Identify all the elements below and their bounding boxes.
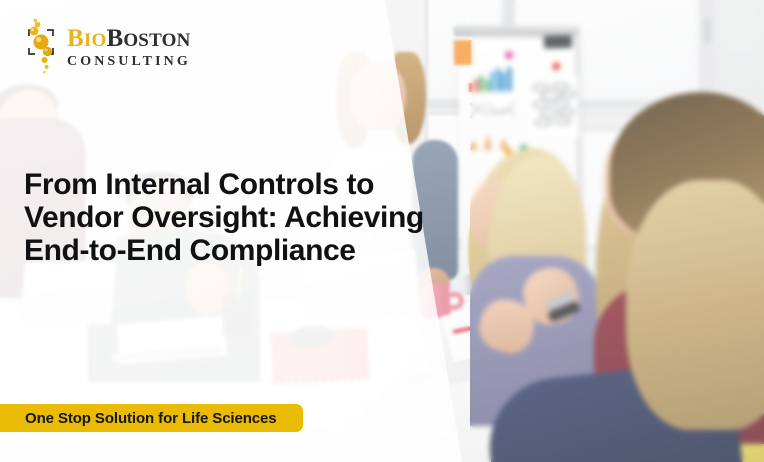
bar-2 — [479, 76, 483, 92]
bar-4 — [490, 71, 494, 91]
laptop-lid — [19, 262, 116, 324]
brand-b2: B — [106, 25, 123, 52]
magnet-red — [552, 62, 560, 70]
tagline-text: One Stop Solution for Life Sciences — [25, 410, 277, 427]
bar-3 — [485, 80, 489, 92]
wall-clock-icon — [211, 83, 253, 125]
flipchart-clip — [544, 35, 572, 49]
bar-chart-drawing — [468, 65, 516, 92]
tagline-banner: One Stop Solution for Life Sciences — [0, 404, 303, 432]
clock-minute-hand — [232, 104, 246, 113]
bar-5 — [496, 68, 500, 91]
mindmap-diagram-upper — [531, 82, 578, 131]
head — [350, 62, 406, 130]
brand-logo[interactable]: BIOBOSTON CONSULTING — [24, 18, 191, 74]
pink-mug — [419, 283, 451, 319]
page-title: From Internal Controls to Vendor Oversig… — [24, 168, 424, 267]
brand-b1: B — [67, 25, 84, 52]
pen-cup — [222, 294, 253, 336]
bar-6 — [501, 72, 505, 91]
line-graph-drawing — [469, 97, 515, 122]
gold-spheres-bracket-icon — [24, 18, 58, 74]
sticky-note-orange — [454, 40, 472, 65]
laptop-left — [22, 262, 114, 324]
brand-wordmark: BIOBOSTON CONSULTING — [67, 26, 191, 70]
brand-oston: OSTON — [123, 30, 190, 51]
window-handle-icon — [704, 18, 711, 44]
brand-subtitle: CONSULTING — [67, 54, 191, 70]
bar-7 — [507, 67, 511, 91]
bar-0 — [469, 83, 473, 92]
brand-io: IO — [84, 30, 107, 51]
brand-name: BIOBOSTON — [67, 26, 191, 53]
bar-1 — [474, 79, 478, 92]
hair-front — [626, 180, 764, 430]
marketing-banner: BIOBOSTON CONSULTING From Internal Contr… — [0, 0, 764, 462]
magnet-pink — [505, 51, 513, 59]
